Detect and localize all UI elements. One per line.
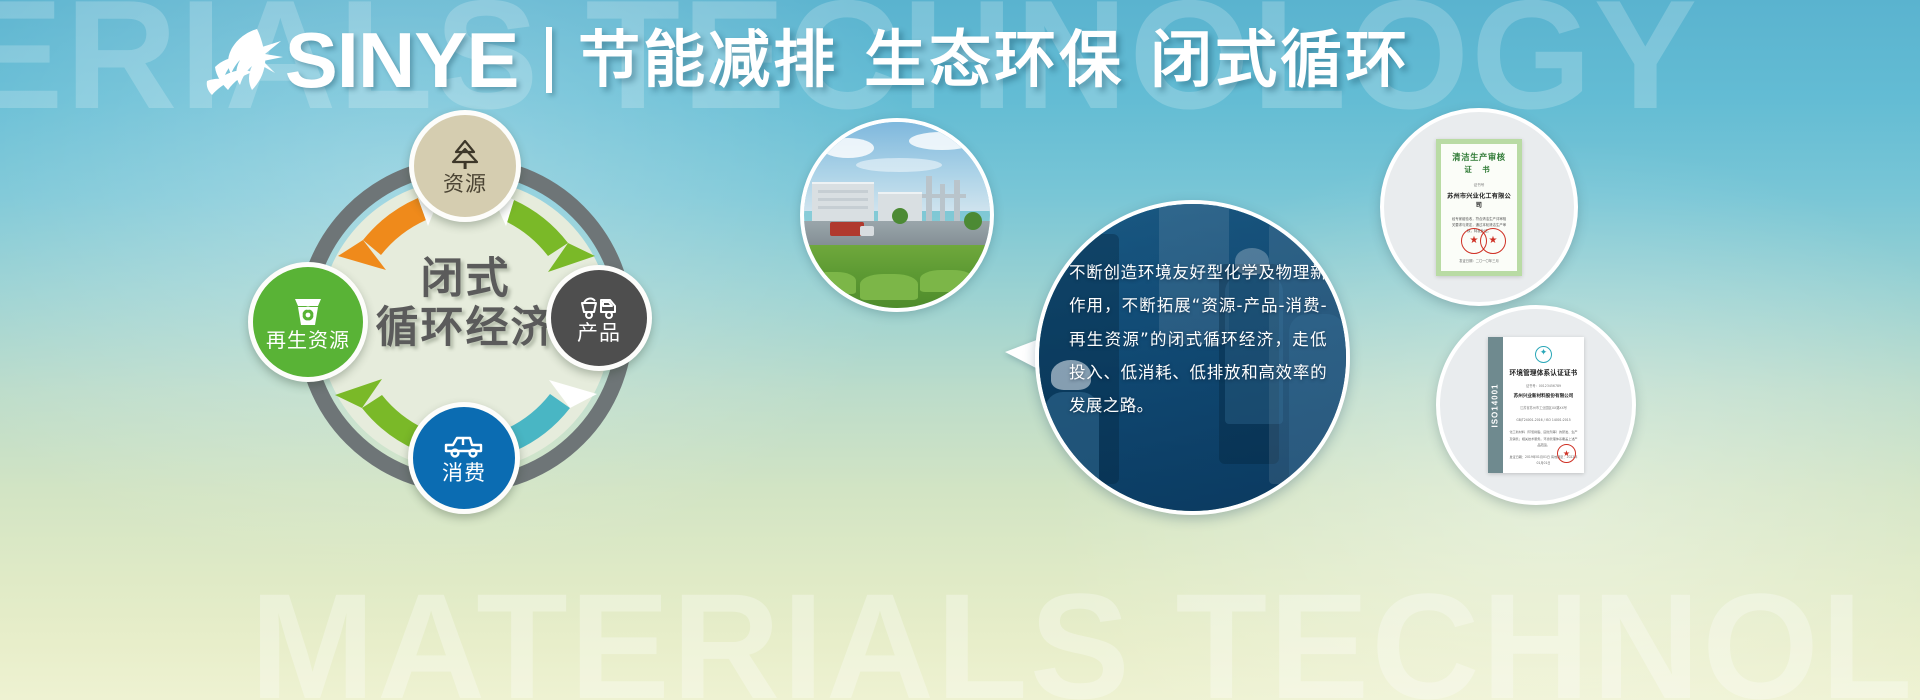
closed-loop-cycle-diagram: 闭式 循环经济 资源 [268,128,662,522]
cert2-title: 环境管理体系认证证书 [1508,367,1579,377]
red-seal-icon: ★ [1557,444,1576,463]
headline-part-2: 生态环保 [864,23,1124,96]
leaf-swirl-icon [205,23,283,97]
watermark-text-bottom: MATERIALS TECHNOL [250,560,1914,700]
cycle-node-resource-label: 资源 [443,174,487,195]
photo-cloud [909,132,975,150]
photo-building-detail [818,206,868,209]
certification-mark-icon: ✦ [1535,346,1552,363]
cert2-company: 苏州兴业新材料股份有限公司 [1508,393,1579,399]
certificate-iso-14001[interactable]: ISO14001 ✦ 环境管理体系认证证书 证书号：00123456789 苏州… [1436,305,1636,505]
cycle-node-resource[interactable]: 资源 [409,110,521,222]
promotional-banner: ERIALS TECHNOLOGY MATERIALS TECHNOL SINY… [0,0,1920,700]
cert1-title-line1: 清洁生产审核 [1446,151,1512,163]
headline-slogan: 节能减排生态环保闭式循环 [578,29,1410,91]
brand-logo: SINYE [205,21,516,99]
cycle-node-consume[interactable]: 消费 [408,402,520,514]
cert2-spine: ISO14001 [1488,337,1503,473]
cert2-registry: 证书号：00123456789 [1508,383,1579,389]
truck-icon [579,293,619,321]
certificate-clean-production[interactable]: 清洁生产审核 证 书 证书号 苏州市兴业化工有限公司 经专家组验收，符合清洁生产… [1380,108,1578,306]
photo-pipe [922,194,966,198]
car-icon [442,433,486,461]
headline-part-1: 节能减排 [578,23,838,96]
cert2-spine-text: ISO14001 [1491,383,1500,427]
photo-hedge [920,270,974,292]
recycle-bin-gear-icon [288,294,328,328]
photo-building-detail [818,198,868,201]
banner-header: SINYE 节能减排生态环保闭式循环 [0,0,1920,120]
photo-building-detail [818,190,868,193]
photo-truck [830,222,864,236]
certificate-iso-14001-document: ISO14001 ✦ 环境管理体系认证证书 证书号：00123456789 苏州… [1488,337,1584,473]
philosophy-speech-bubble: 不断创造环境友好型化学及物理新作用，不断拓展“资源-产品-消费-再生资源”的闭式… [1035,200,1350,515]
cert1-title-line2: 证 书 [1446,164,1512,175]
headline-part-3: 闭式循环 [1150,23,1410,96]
cycle-node-product-label: 产品 [577,323,621,344]
cert1-sub-label: 证书号 [1446,183,1512,188]
red-seal-icon: ★ [1480,228,1506,254]
photo-pipe [926,176,932,224]
factory-campus-photo [800,118,994,312]
photo-hedge [808,272,856,294]
certificate-clean-production-document: 清洁生产审核 证 书 证书号 苏州市兴业化工有限公司 经专家组验收，符合清洁生产… [1436,139,1522,276]
cert2-address: 江苏省苏州市工业园区XX路XX号 [1508,405,1579,411]
photo-truck-cab [860,226,874,236]
photo-building [812,182,874,226]
header-divider [546,27,552,93]
cycle-node-renew[interactable]: 再生资源 [248,262,368,382]
brand-wordmark: SINYE [285,21,519,99]
cycle-node-renew-label: 再生资源 [266,330,350,350]
cycle-node-consume-label: 消费 [442,463,486,484]
philosophy-text: 不断创造环境友好型化学及物理新作用，不断拓展“资源-产品-消费-再生资源”的闭式… [1069,256,1327,423]
photo-cloud [822,138,874,158]
cycle-center-line-2: 循环经济 [358,304,573,353]
photo-tree [892,208,908,224]
photo-pipe [954,180,960,224]
photo-cloud [856,158,942,172]
photo-pipe [940,184,945,224]
cycle-center-label: 闭式 循环经济 [358,255,573,352]
cycle-node-product[interactable]: 产品 [546,265,652,371]
cycle-center-line-1: 闭式 [358,255,573,304]
cert1-date: 发证日期：二〇一〇年三月 [1441,258,1517,263]
photo-hedge [860,274,918,300]
cert1-company: 苏州市兴业化工有限公司 [1446,191,1512,209]
cert2-standard: GB/T24001-2016 / ISO 14001:2015 [1508,417,1579,423]
photo-tree [964,212,982,230]
tree-icon [447,138,483,172]
